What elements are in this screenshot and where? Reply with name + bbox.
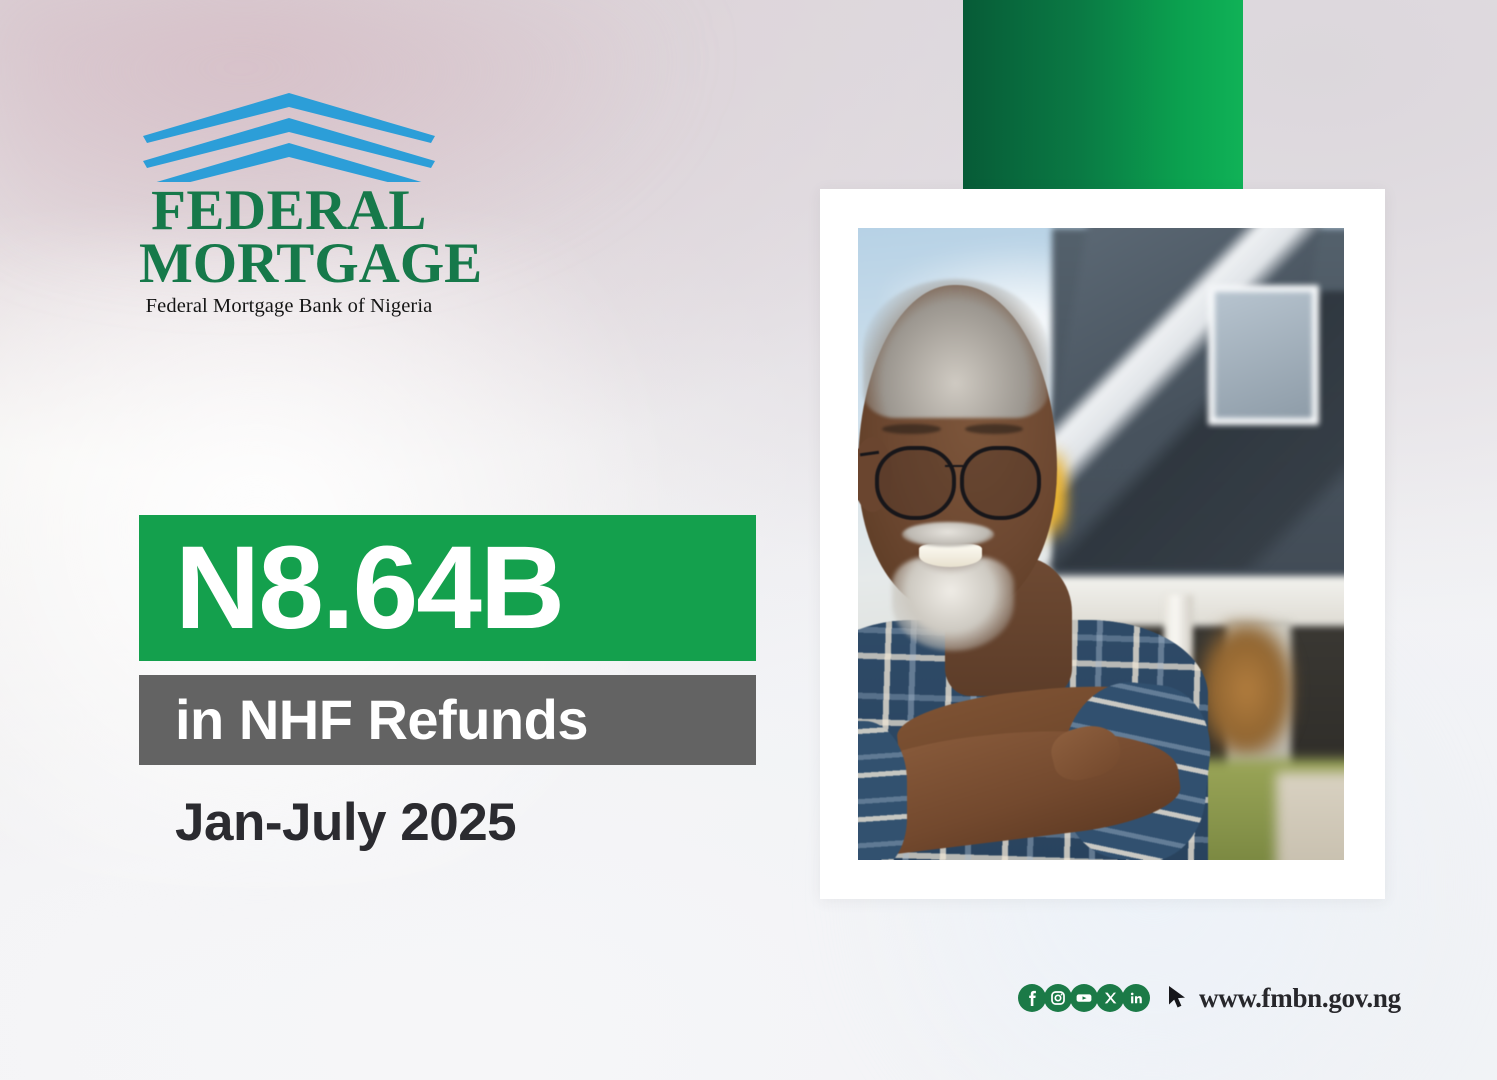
fmbn-logo: FEDERAL MORTGAGE Federal Mortgage Bank o… (139, 90, 449, 318)
green-accent-band (963, 0, 1243, 190)
x-twitter-icon[interactable] (1096, 984, 1124, 1012)
amount-value: N8.64B (175, 529, 563, 647)
photo-person-glasses-right-lens (960, 446, 1041, 520)
subtitle-text: in NHF Refunds (175, 692, 588, 748)
amount-highlight-bar: N8.64B (139, 515, 756, 661)
instagram-icon[interactable] (1044, 984, 1072, 1012)
mouse-cursor-icon (1166, 985, 1190, 1011)
photo-person (858, 228, 1344, 860)
poster-canvas: FEDERAL MORTGAGE Federal Mortgage Bank o… (0, 0, 1497, 1080)
social-links (1018, 984, 1148, 1012)
logo-tagline: Federal Mortgage Bank of Nigeria (139, 295, 439, 318)
linkedin-icon[interactable] (1122, 984, 1150, 1012)
hero-photo (858, 228, 1344, 860)
facebook-icon[interactable] (1018, 984, 1046, 1012)
triple-chevron-roof-icon (139, 90, 439, 182)
photo-person-glasses-left-lens (875, 446, 956, 520)
subtitle-bar: in NHF Refunds (139, 675, 756, 765)
photo-person-brow-left (882, 424, 940, 434)
photo-person-glasses-bridge (945, 465, 964, 467)
period-label: Jan-July 2025 (175, 792, 516, 853)
photo-person-brow-right (965, 424, 1023, 434)
logo-word-federal: FEDERAL (139, 186, 439, 235)
footer: www.fmbn.gov.ng (1018, 981, 1401, 1015)
photo-person-teeth (919, 544, 982, 567)
youtube-icon[interactable] (1070, 984, 1098, 1012)
photo-frame (820, 189, 1385, 899)
photo-person-hair (863, 279, 1048, 418)
website-url[interactable]: www.fmbn.gov.ng (1199, 983, 1401, 1014)
photo-person-mustache (902, 522, 994, 547)
logo-word-mortgage: MORTGAGE (139, 239, 439, 288)
